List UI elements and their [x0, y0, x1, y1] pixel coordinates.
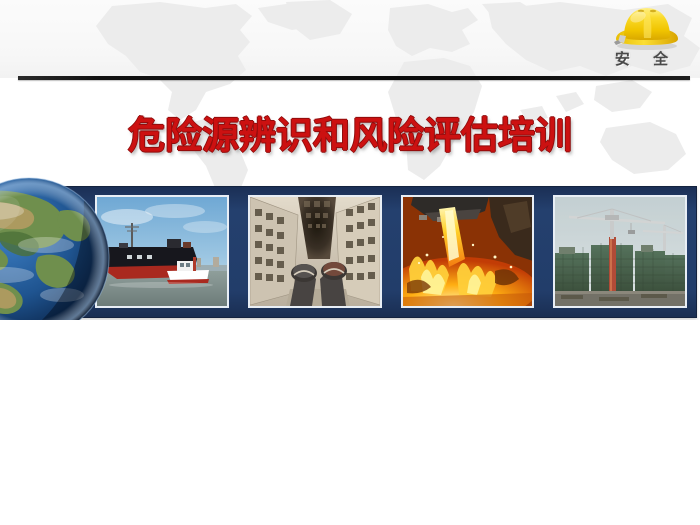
helmet-icon	[610, 2, 684, 52]
photo-rooftop-feet	[248, 195, 382, 308]
photo-band	[38, 186, 697, 318]
slide-content-area	[0, 320, 700, 525]
safety-helmet-logo: 安 全	[600, 2, 692, 76]
photo-strip	[95, 195, 687, 308]
header-background	[0, 0, 700, 78]
photo-construction-site	[553, 195, 687, 308]
photo-molten-metal	[401, 195, 535, 308]
presentation-slide: 安 全 危险源辨识和风险评估培训	[0, 0, 700, 525]
page-title: 危险源辨识和风险评估培训	[0, 113, 700, 159]
header-divider-rule	[18, 76, 690, 80]
logo-caption: 安 全	[600, 48, 692, 69]
